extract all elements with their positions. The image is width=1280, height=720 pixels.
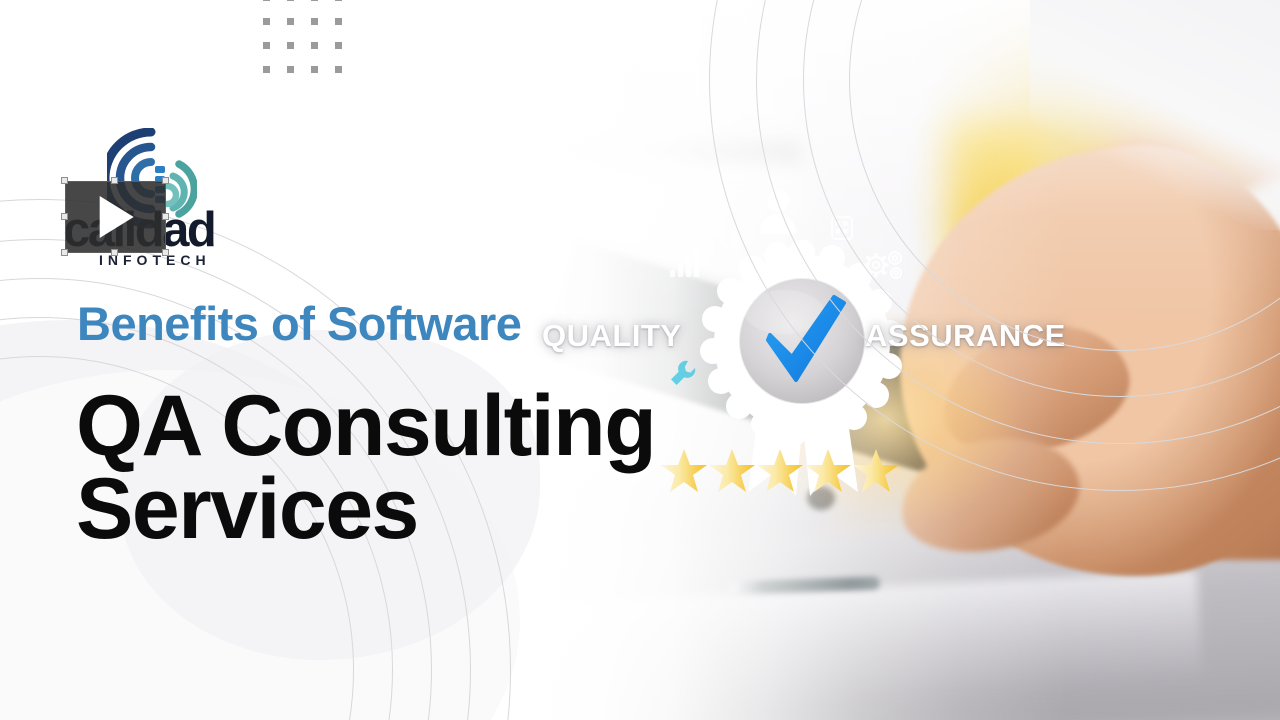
decor-dot-grid: [263, 0, 342, 73]
video-play-button[interactable]: [65, 181, 166, 253]
resize-handle-w[interactable]: [61, 213, 68, 220]
resize-handle-s[interactable]: [111, 249, 118, 256]
hand-holding-tablet-photo: [520, 0, 1280, 720]
headline-line-2: Services: [76, 468, 655, 551]
play-triangle-icon: [99, 196, 133, 238]
page-title: QA Consulting Services: [76, 385, 655, 552]
resize-handle-nw[interactable]: [61, 177, 68, 184]
resize-handle-ne[interactable]: [162, 177, 169, 184]
resize-handle-se[interactable]: [162, 249, 169, 256]
resize-handle-n[interactable]: [111, 177, 118, 184]
slide-canvas: QUALITY ASSURANCE Benefits of Sof: [0, 0, 1280, 720]
headline-line-1: QA Consulting: [76, 385, 655, 468]
eyebrow-heading: Benefits of Software: [77, 300, 521, 347]
photo-top-white-fade: [520, 0, 1280, 720]
resize-handle-sw[interactable]: [61, 249, 68, 256]
resize-handle-e[interactable]: [162, 213, 169, 220]
